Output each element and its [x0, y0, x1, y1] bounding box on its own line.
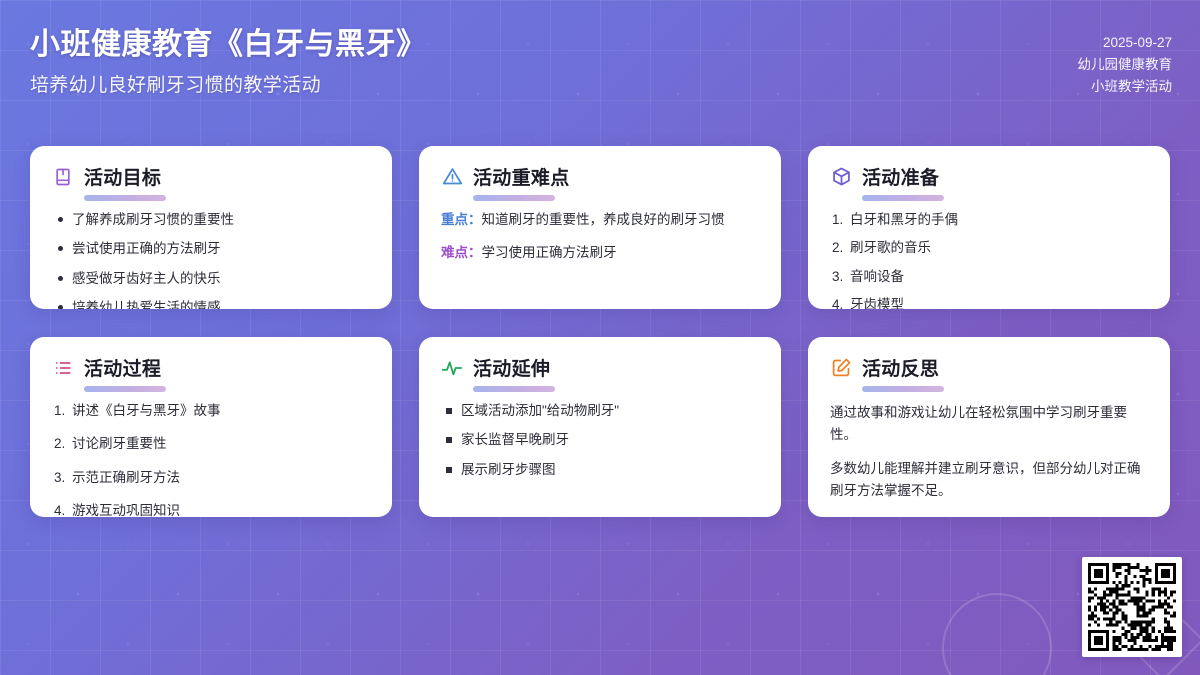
list-item: 示范正确刷牙方法: [52, 468, 370, 488]
keypoint-label-difficulty: 难点：: [441, 245, 482, 260]
card-activity-reflection[interactable]: 活动反思 通过故事和游戏让幼儿在轻松氛围中学习刷牙重要性。 多数幼儿能理解并建立…: [808, 337, 1170, 517]
list-item: 讲述《白牙与黑牙》故事: [52, 401, 370, 421]
reflection-paragraph: 通过故事和游戏让幼儿在轻松氛围中学习刷牙重要性。: [830, 402, 1148, 446]
list-item: 感受做牙齿好主人的快乐: [52, 269, 370, 289]
card-activity-goals[interactable]: 活动目标 了解养成刷牙习惯的重要性 尝试使用正确的方法刷牙 感受做牙齿好主人的快…: [30, 146, 392, 309]
accent-bar: [84, 386, 166, 392]
list-item: 展示刷牙步骤图: [441, 460, 759, 480]
accent-bar: [473, 195, 555, 201]
list-item: 培养幼儿热爱生活的情感: [52, 298, 370, 309]
reflection-paragraph: 多数幼儿能理解并建立刷牙意识，但部分幼儿对正确刷牙方法掌握不足。: [830, 458, 1148, 502]
page-title: 小班健康教育《白牙与黑牙》: [30, 26, 427, 64]
book-icon: [52, 166, 74, 188]
extension-list: 区域活动添加"给动物刷牙" 家长监督早晚刷牙 展示刷牙步骤图: [441, 401, 759, 480]
accent-bar: [862, 386, 944, 392]
keypoint-text-focus: 知道刷牙的重要性，养成良好的刷牙习惯: [482, 212, 725, 227]
card-title: 活动重难点: [473, 163, 570, 190]
list-item: 白牙和黑牙的手偶: [830, 210, 1148, 230]
list-item: 尝试使用正确的方法刷牙: [52, 239, 370, 259]
slide-root: 小班健康教育《白牙与黑牙》 培养幼儿良好刷牙习惯的教学活动 2025-09-27…: [0, 0, 1200, 675]
title-block: 小班健康教育《白牙与黑牙》 培养幼儿良好刷牙习惯的教学活动: [30, 26, 427, 97]
card-header: 活动准备: [830, 163, 1148, 190]
card-activity-keypoints[interactable]: 活动重难点 重点：知道刷牙的重要性，养成良好的刷牙习惯 难点：学习使用正确方法刷…: [419, 146, 781, 309]
card-activity-extension[interactable]: 活动延伸 区域活动添加"给动物刷牙" 家长监督早晚刷牙 展示刷牙步骤图: [419, 337, 781, 517]
list-item: 牙齿模型: [830, 295, 1148, 309]
accent-bar: [862, 195, 944, 201]
card-title: 活动准备: [862, 163, 939, 190]
card-title: 活动延伸: [473, 354, 550, 381]
accent-bar: [473, 386, 555, 392]
list-icon: [52, 357, 74, 379]
list-item: 讨论刷牙重要性: [52, 434, 370, 454]
qr-code-image: [1088, 563, 1176, 651]
keypoints-list: 重点：知道刷牙的重要性，养成良好的刷牙习惯 难点：学习使用正确方法刷牙: [441, 210, 759, 264]
page-subtitle: 培养幼儿良好刷牙习惯的教学活动: [30, 70, 427, 97]
list-item: 了解养成刷牙习惯的重要性: [52, 210, 370, 230]
keypoint-text-difficulty: 学习使用正确方法刷牙: [482, 245, 617, 260]
list-item: 游戏互动巩固知识: [52, 501, 370, 517]
card-header: 活动目标: [52, 163, 370, 190]
accent-bar: [84, 195, 166, 201]
header-meta: 2025-09-27 幼儿园健康教育 小班教学活动: [1078, 32, 1173, 98]
preparation-list: 白牙和黑牙的手偶 刷牙歌的音乐 音响设备 牙齿模型: [830, 210, 1148, 309]
list-item: 音响设备: [830, 267, 1148, 287]
list-item: 刷牙歌的音乐: [830, 238, 1148, 258]
meta-date: 2025-09-27: [1078, 32, 1173, 54]
card-title: 活动目标: [84, 163, 161, 190]
keypoint-row-difficulty: 难点：学习使用正确方法刷牙: [441, 243, 759, 263]
card-title: 活动反思: [862, 354, 939, 381]
meta-audience: 小班教学活动: [1078, 76, 1173, 98]
card-grid: 活动目标 了解养成刷牙习惯的重要性 尝试使用正确的方法刷牙 感受做牙齿好主人的快…: [30, 146, 1170, 517]
card-header: 活动延伸: [441, 354, 759, 381]
list-item: 区域活动添加"给动物刷牙": [441, 401, 759, 421]
qr-code[interactable]: [1082, 557, 1182, 657]
warning-triangle-icon: [441, 166, 463, 188]
card-header: 活动过程: [52, 354, 370, 381]
card-activity-preparation[interactable]: 活动准备 白牙和黑牙的手偶 刷牙歌的音乐 音响设备 牙齿模型: [808, 146, 1170, 309]
decorative-circle: [942, 593, 1052, 675]
meta-category: 幼儿园健康教育: [1078, 54, 1173, 76]
card-title: 活动过程: [84, 354, 161, 381]
list-item: 家长监督早晚刷牙: [441, 430, 759, 450]
keypoint-label-focus: 重点：: [441, 212, 482, 227]
activity-pulse-icon: [441, 357, 463, 379]
card-header: 活动反思: [830, 354, 1148, 381]
header: 小班健康教育《白牙与黑牙》 培养幼儿良好刷牙习惯的教学活动 2025-09-27…: [0, 0, 1200, 130]
card-header: 活动重难点: [441, 163, 759, 190]
card-activity-process[interactable]: 活动过程 讲述《白牙与黑牙》故事 讨论刷牙重要性 示范正确刷牙方法 游戏互动巩固…: [30, 337, 392, 517]
edit-square-icon: [830, 357, 852, 379]
keypoint-row-focus: 重点：知道刷牙的重要性，养成良好的刷牙习惯: [441, 210, 759, 230]
process-list: 讲述《白牙与黑牙》故事 讨论刷牙重要性 示范正确刷牙方法 游戏互动巩固知识: [52, 401, 370, 517]
goals-list: 了解养成刷牙习惯的重要性 尝试使用正确的方法刷牙 感受做牙齿好主人的快乐 培养幼…: [52, 210, 370, 309]
box-icon: [830, 166, 852, 188]
